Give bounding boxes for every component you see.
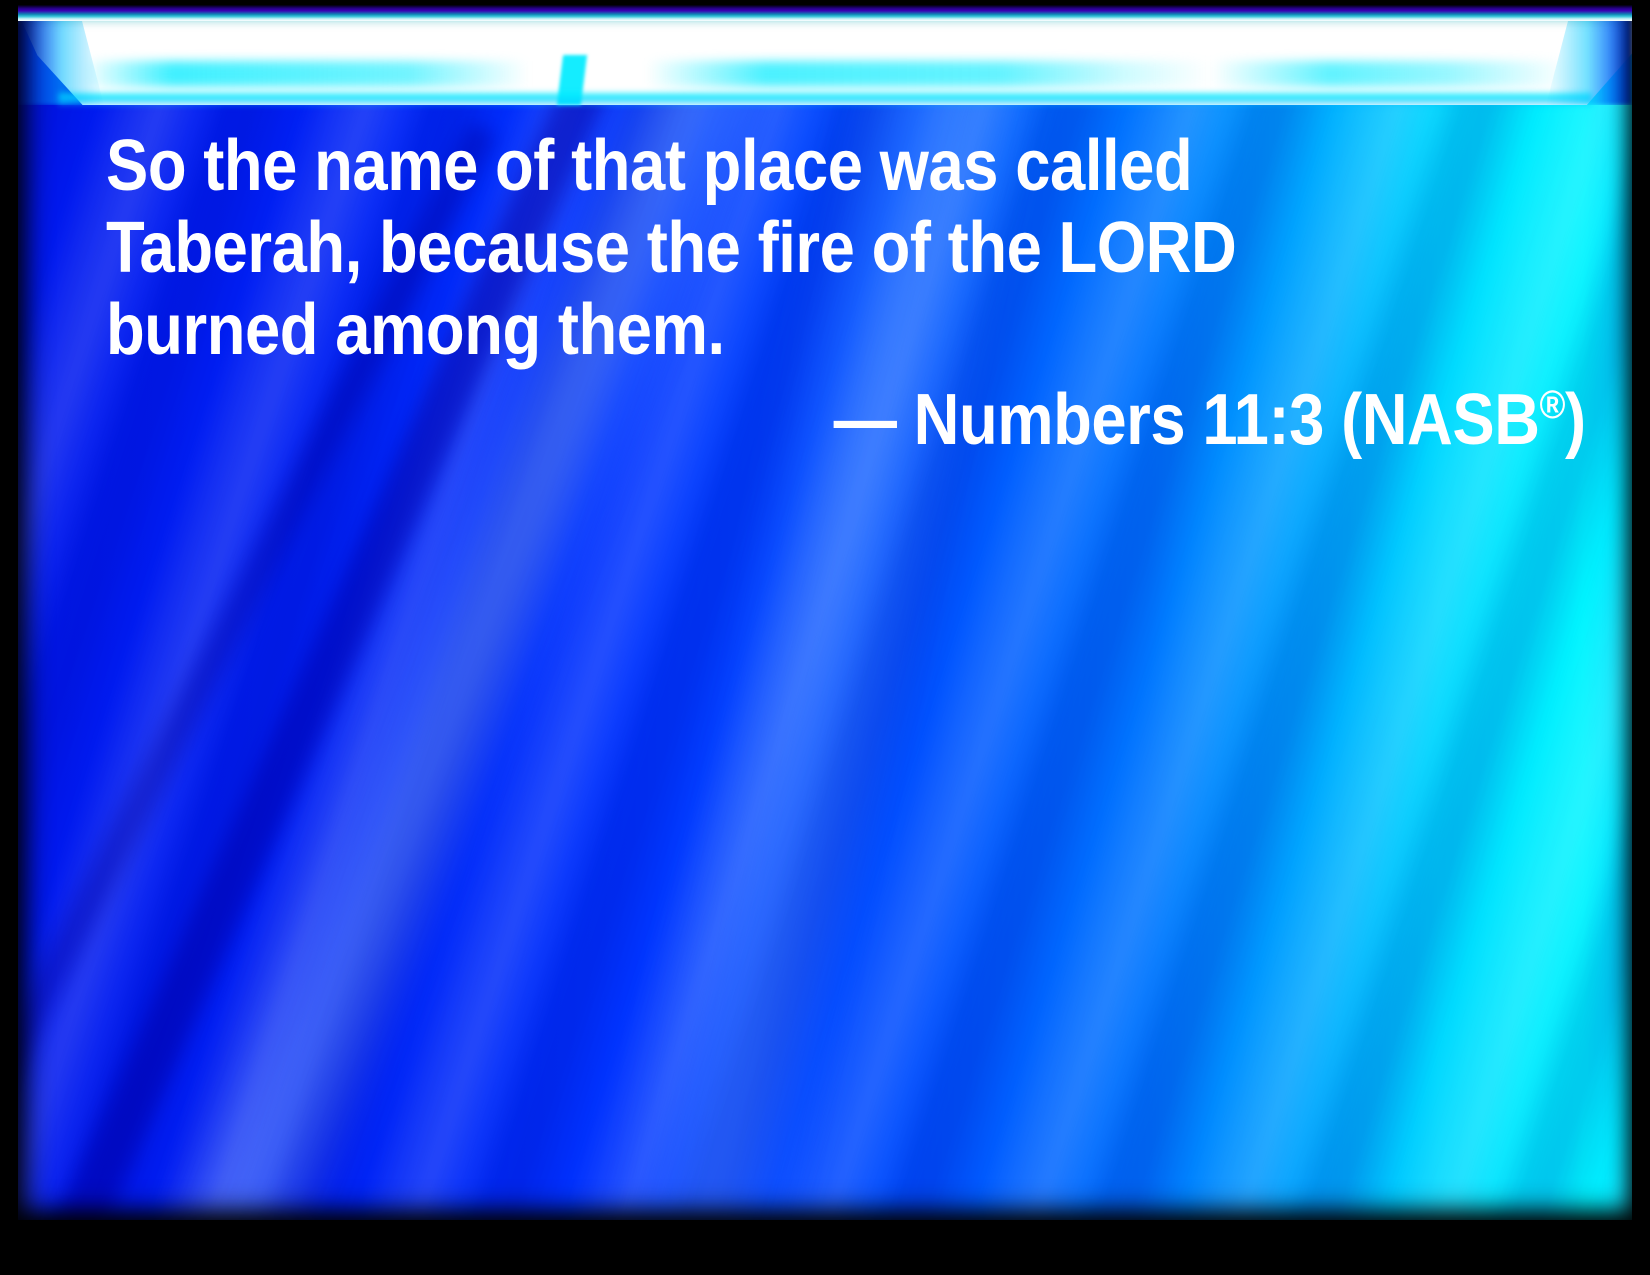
verse-line-3: burned among them.	[106, 289, 1408, 371]
verse-attribution-suffix: )	[1565, 380, 1586, 460]
verse-text-block: So the name of that place was called Tab…	[106, 125, 1586, 371]
verse-line-2: Taberah, because the fire of the LORD	[106, 207, 1408, 289]
header-band-underglow	[58, 91, 1591, 107]
verse-attribution-block: — Numbers 11:3 (NASB®)	[106, 379, 1586, 461]
verse-line-1: So the name of that place was called	[106, 125, 1408, 207]
header-band	[18, 13, 1632, 105]
verse-attribution-text: — Numbers 11:3 (NASB	[834, 380, 1540, 460]
header-band-cyan-wash	[83, 61, 1568, 87]
artwork-panel: So the name of that place was called Tab…	[18, 7, 1632, 1220]
verse-attribution: — Numbers 11:3 (NASB®)	[834, 379, 1586, 461]
top-chroma-rule	[18, 5, 1632, 21]
registered-trademark-icon: ®	[1540, 383, 1566, 427]
verse-slide: So the name of that place was called Tab…	[0, 0, 1650, 1275]
